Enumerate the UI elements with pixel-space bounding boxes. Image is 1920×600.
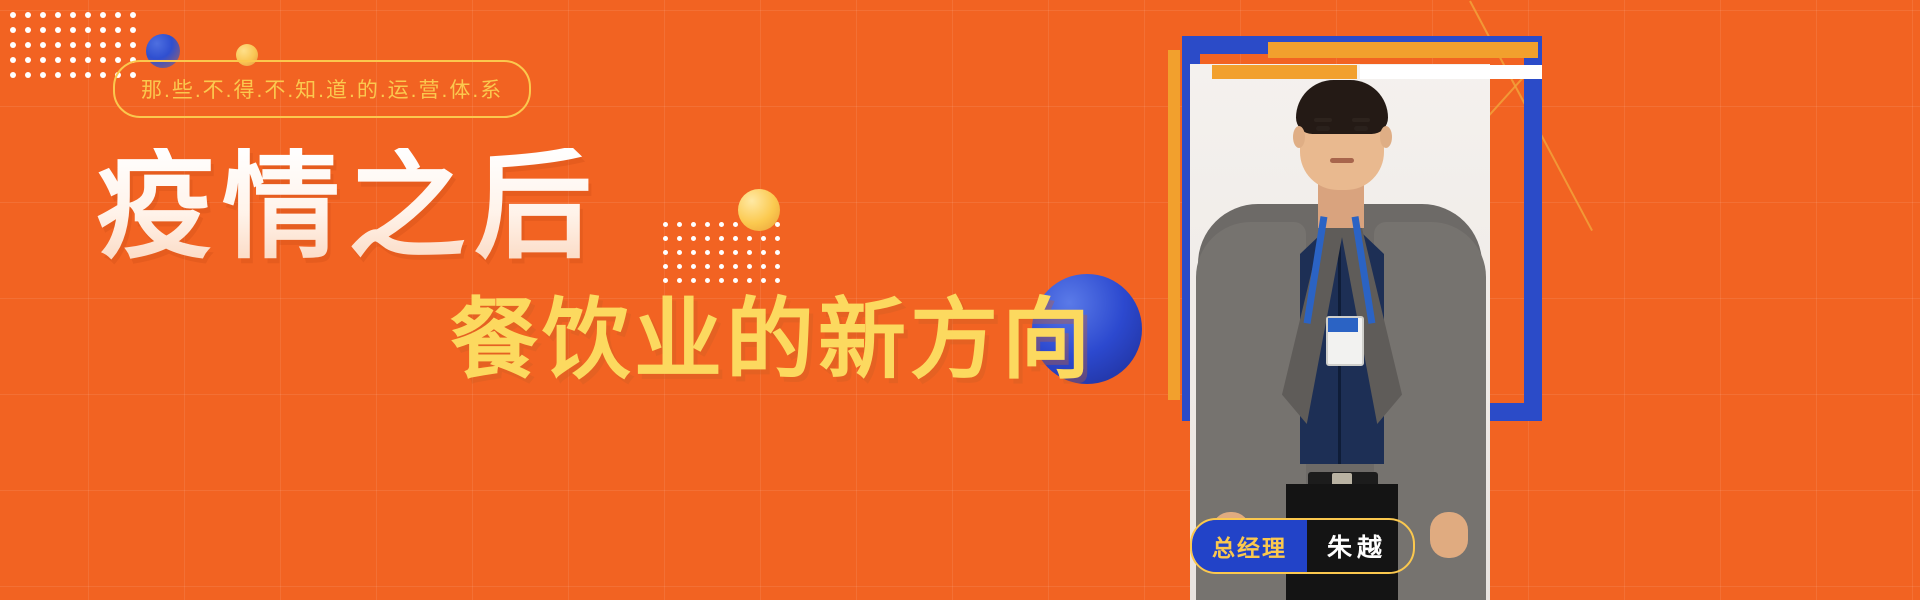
dot [70, 27, 76, 33]
dot [85, 27, 91, 33]
dot [733, 264, 738, 269]
dot [691, 222, 696, 227]
dot [747, 278, 752, 283]
dot [719, 250, 724, 255]
dot [691, 264, 696, 269]
portrait-ear-left [1293, 126, 1305, 148]
dot [775, 222, 780, 227]
dot [775, 236, 780, 241]
page-subtitle: 餐饮业的新方向 [450, 296, 1094, 384]
dot [10, 27, 16, 33]
dot [55, 72, 61, 78]
dot [40, 42, 46, 48]
portrait-id-badge-strip [1328, 318, 1358, 332]
dot [85, 12, 91, 18]
frame-white-bar [1360, 65, 1542, 79]
dot [40, 72, 46, 78]
dot [677, 278, 682, 283]
portrait-eye-left [1316, 126, 1330, 131]
dot [677, 264, 682, 269]
dot [115, 12, 121, 18]
subtitle-pill: 那.些.不.得.不.知.道.的.运.营.体.系 [113, 60, 531, 118]
portrait-mouth [1330, 158, 1354, 163]
dot [115, 57, 121, 63]
dot [747, 250, 752, 255]
dot [747, 236, 752, 241]
dot [40, 27, 46, 33]
page-title: 疫情之后 [96, 148, 600, 266]
dot [25, 27, 31, 33]
dot [25, 72, 31, 78]
dot-row [10, 42, 145, 57]
dot [115, 27, 121, 33]
dot [100, 42, 106, 48]
speaker-badge: 总经理 朱越 [1190, 518, 1415, 574]
dot [55, 12, 61, 18]
speaker-photo-block [1150, 18, 1560, 600]
dot-row [663, 250, 789, 264]
dot [25, 57, 31, 63]
portrait-brow-right [1352, 118, 1370, 122]
dot [70, 72, 76, 78]
dot [705, 278, 710, 283]
dot [761, 278, 766, 283]
dot [100, 12, 106, 18]
dot-row [10, 12, 145, 27]
portrait-brow-left [1314, 118, 1332, 122]
dot [130, 27, 136, 33]
portrait-hair [1296, 80, 1388, 134]
dot [663, 250, 668, 255]
dot [100, 57, 106, 63]
dot [719, 236, 724, 241]
frame-yellow-vertical-bar [1168, 50, 1180, 400]
dot [733, 278, 738, 283]
speaker-role-label: 总经理 [1192, 520, 1307, 572]
dot [70, 42, 76, 48]
dot [719, 222, 724, 227]
dot [10, 42, 16, 48]
dot [55, 42, 61, 48]
dot-row [663, 236, 789, 250]
dot-grid-middle-icon [663, 222, 789, 292]
dot [70, 57, 76, 63]
dot [677, 222, 682, 227]
dot [677, 236, 682, 241]
dot [55, 27, 61, 33]
dot [10, 57, 16, 63]
frame-orange-inner-bar [1212, 65, 1357, 79]
dot [719, 264, 724, 269]
dot [733, 222, 738, 227]
dot [691, 278, 696, 283]
dot [677, 250, 682, 255]
dot [775, 250, 780, 255]
dot [761, 236, 766, 241]
dot [130, 12, 136, 18]
dot [55, 57, 61, 63]
dot [10, 12, 16, 18]
dot [705, 236, 710, 241]
dot [691, 250, 696, 255]
dot [130, 42, 136, 48]
portrait-ear-right [1380, 126, 1392, 148]
dot [705, 250, 710, 255]
dot [25, 42, 31, 48]
portrait-eye-right [1354, 126, 1368, 131]
dot [85, 57, 91, 63]
dot [40, 12, 46, 18]
dot [747, 264, 752, 269]
promo-banner: 那.些.不.得.不.知.道.的.运.营.体.系 疫情之后 餐饮业的新方向 [0, 0, 1920, 600]
dot [85, 72, 91, 78]
dot [761, 264, 766, 269]
dot [775, 264, 780, 269]
dot [733, 236, 738, 241]
dot [100, 72, 106, 78]
dot [663, 222, 668, 227]
dot [70, 12, 76, 18]
dot [663, 236, 668, 241]
dot [25, 12, 31, 18]
dot [115, 42, 121, 48]
portrait-hand-right [1430, 512, 1468, 558]
dot-row [663, 264, 789, 278]
dot [691, 236, 696, 241]
frame-orange-top-bar [1268, 42, 1538, 58]
dot [10, 72, 16, 78]
dot [719, 278, 724, 283]
dot [100, 27, 106, 33]
sphere-yellow-mid-icon [738, 189, 780, 231]
dot [705, 222, 710, 227]
dot-row [10, 27, 145, 42]
dot [775, 278, 780, 283]
dot [85, 42, 91, 48]
speaker-name-label: 朱越 [1307, 520, 1413, 572]
dot [663, 278, 668, 283]
dot [705, 264, 710, 269]
dot [733, 250, 738, 255]
dot [40, 57, 46, 63]
dot [663, 264, 668, 269]
dot [761, 250, 766, 255]
